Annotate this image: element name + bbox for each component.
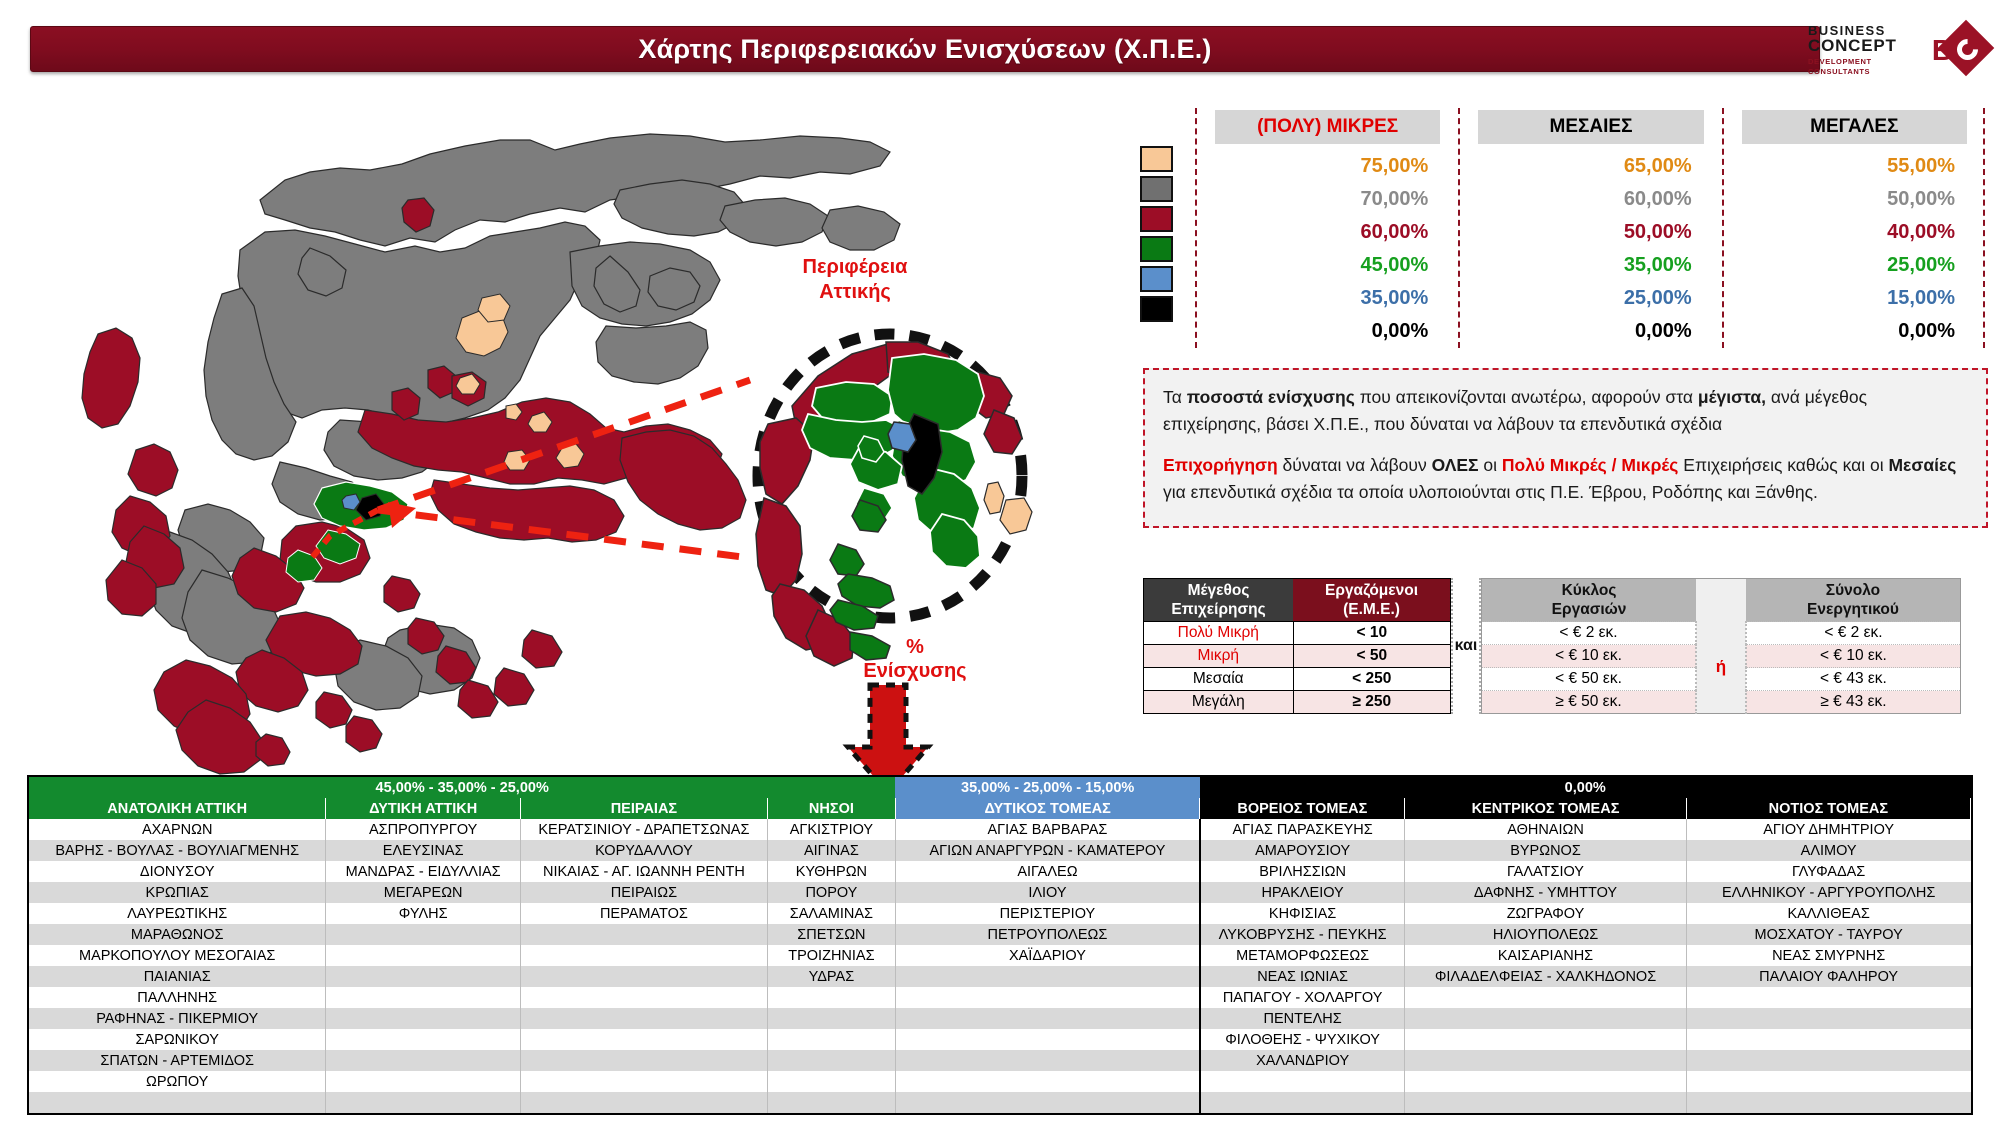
municipality-cell: ΗΛΙΟΥΠΟΛΕΩΣ (1405, 924, 1687, 945)
municipality-cell (520, 1050, 767, 1071)
municipality-cell: ΝΕΑΣ ΙΩΝΙΑΣ (1200, 966, 1405, 987)
municipality-table-grid: 45,00% - 35,00% - 25,00%35,00% - 25,00% … (29, 777, 1971, 1113)
municipality-cell: ΑΓΚΙΣΤΡΙΟΥ (767, 819, 895, 840)
municipality-cell (520, 1029, 767, 1050)
municipality-cell (767, 1050, 895, 1071)
legend-column-1: ΜΕΣΑΙΕΣ65,00%60,00%50,00%35,00%25,00%0,0… (1458, 108, 1721, 348)
attica-callout-line1: Περιφέρεια (755, 255, 955, 280)
municipality-cell: ΠΟΡΟΥ (767, 882, 895, 903)
municipality-cell: ΓΛΥΦΑΔΑΣ (1686, 861, 1970, 882)
municipality-cell: ΑΧΑΡΝΩΝ (29, 819, 326, 840)
municipality-cell: ΒΥΡΩΝΟΣ (1405, 840, 1687, 861)
criteria-header-turn-l1: Κύκλος (1488, 581, 1690, 600)
down-arrow-icon (848, 685, 928, 780)
municipality-cell: ΔΑΦΝΗΣ - ΥΜΗΤΤΟΥ (1405, 882, 1687, 903)
municipality-cell (767, 987, 895, 1008)
municipality-cell: ΠΑΙΑΝΙΑΣ (29, 966, 326, 987)
municipality-cell: ΑΓΙΟΥ ΔΗΜΗΤΡΙΟΥ (1686, 819, 1970, 840)
municipality-cell (1405, 1071, 1687, 1092)
aid-percent-line1: % (825, 635, 1005, 659)
municipality-cell: ΠΑΛΑΙΟΥ ΦΑΛΗΡΟΥ (1686, 966, 1970, 987)
group-header-0: 45,00% - 35,00% - 25,00% (29, 777, 895, 798)
greece-map-panel: Περιφέρεια Αττικής % Ενίσχυσης (10, 80, 1110, 780)
municipality-cell: ΜΕΤΑΜΟΡΦΩΣΕΩΣ (1200, 945, 1405, 966)
municipality-cell (326, 945, 521, 966)
municipality-cell (326, 1029, 521, 1050)
municipality-cell: ΚΑΙΣΑΡΙΑΝΗΣ (1405, 945, 1687, 966)
legend-value-0-2: 60,00% (1205, 216, 1450, 249)
municipality-cell (520, 1092, 767, 1113)
municipality-cell: ΥΔΡΑΣ (767, 966, 895, 987)
municipality-cell (1686, 1050, 1970, 1071)
criteria-header-asset-l2: Ενεργητικού (1752, 600, 1954, 619)
criteria-turnover-cell: < € 2 εκ. (1482, 622, 1697, 645)
municipality-cell: ΛΑΥΡΕΩΤΙΚΗΣ (29, 903, 326, 924)
criteria-turnover-cell: < € 50 εκ. (1482, 668, 1697, 691)
municipality-cell: ΚΕΡΑΤΣΙΝΙΟΥ - ΔΡΑΠΕΤΣΩΝΑΣ (520, 819, 767, 840)
table-row: ΠΑΙΑΝΙΑΣΥΔΡΑΣΝΕΑΣ ΙΩΝΙΑΣΦΙΛΑΔΕΛΦΕΙΑΣ - Χ… (29, 966, 1971, 987)
table-row: ΠΑΛΛΗΝΗΣΠΑΠΑΓΟΥ - ΧΟΛΑΡΓΟΥ (29, 987, 1971, 1008)
municipality-cell: ΦΙΛΟΘΕΗΣ - ΨΥΧΙΚΟΥ (1200, 1029, 1405, 1050)
criteria-header-emp-l2: (Ε.Μ.Ε.) (1299, 600, 1444, 619)
municipality-cell (895, 1092, 1200, 1113)
criteria-row: Πολύ Μικρή< 10 (1144, 622, 1451, 645)
municipality-cell: ΙΛΙΟΥ (895, 882, 1200, 903)
legend-columns: (ΠΟΛΥ) ΜΙΚΡΕΣ75,00%70,00%60,00%45,00%35,… (1195, 108, 1985, 348)
municipality-cell: ΑΛΙΜΟΥ (1686, 840, 1970, 861)
legend-value-1-5: 0,00% (1468, 315, 1713, 348)
legend-value-1-4: 25,00% (1468, 282, 1713, 315)
municipality-cell (326, 1071, 521, 1092)
note-p1-b: ποσοστά ενίσχυσης (1187, 387, 1355, 407)
municipality-cell: ΡΑΦΗΝΑΣ - ΠΙΚΕΡΜΙΟΥ (29, 1008, 326, 1029)
column-header-3[interactable]: ΝΗΣΟΙ (767, 798, 895, 819)
criteria-header-turnover: Κύκλος Εργασιών (1482, 579, 1697, 622)
legend-swatch-5 (1140, 296, 1173, 322)
column-header-4[interactable]: ΔΥΤΙΚΟΣ ΤΟΜΕΑΣ (895, 798, 1200, 819)
municipality-cell: ΩΡΩΠΟΥ (29, 1071, 326, 1092)
criteria-header-size-l2: Επιχείρησης (1150, 600, 1287, 619)
column-header-1[interactable]: ΔΥΤΙΚΗ ΑΤΤΙΚΗ (326, 798, 521, 819)
note-p1-d: μέγιστα, (1698, 387, 1766, 407)
column-header-2[interactable]: ΠΕΙΡΑΙΑΣ (520, 798, 767, 819)
column-header-5[interactable]: ΒΟΡΕΙΟΣ ΤΟΜΕΑΣ (1200, 798, 1405, 819)
municipality-cell (520, 966, 767, 987)
logo-wordmark: BUSINESS CONCEPT DEVELOPMENT CONSULTANTS (1808, 24, 1928, 77)
municipality-cell: ΗΡΑΚΛΕΙΟΥ (1200, 882, 1405, 903)
table-row: ΡΑΦΗΝΑΣ - ΠΙΚΕΡΜΙΟΥΠΕΝΤΕΛΗΣ (29, 1008, 1971, 1029)
criteria-right-table: Κύκλος Εργασιών Σύνολο Ενεργητικού < € 2… (1481, 578, 1961, 714)
legend-value-0-0: 75,00% (1205, 150, 1450, 183)
municipality-cell (326, 966, 521, 987)
municipality-cell: ΕΛΛΗΝΙΚΟΥ - ΑΡΓΥΡΟΥΠΟΛΗΣ (1686, 882, 1970, 903)
municipality-cell (1200, 1071, 1405, 1092)
municipality-cell: ΑΓΙΑΣ ΒΑΡΒΑΡΑΣ (895, 819, 1200, 840)
table-row: ΜΑΡΑΘΩΝΟΣΣΠΕΤΣΩΝΠΕΤΡΟΥΠΟΛΕΩΣΛΥΚΟΒΡΥΣΗΣ -… (29, 924, 1971, 945)
municipality-cell (767, 1071, 895, 1092)
legend-value-0-4: 35,00% (1205, 282, 1450, 315)
municipality-cell: ΣΠΑΤΩΝ - ΑΡΤΕΜΙΔΟΣ (29, 1050, 326, 1071)
municipality-cell (767, 1008, 895, 1029)
criteria-connector-or-header (1696, 579, 1746, 622)
note-p2-h: για επενδυτικά σχέδια τα οποία υλοποιούν… (1163, 482, 1818, 502)
municipality-cell: ΑΜΑΡΟΥΣΙΟΥ (1200, 840, 1405, 861)
criteria-row-right: < € 2 εκ.ή< € 2 εκ. (1482, 622, 1961, 645)
municipality-cell (326, 1008, 521, 1029)
page-title: Χάρτης Περιφερειακών Ενισχύσεων (Χ.Π.Ε.) (638, 34, 1211, 65)
municipality-cell (29, 1092, 326, 1113)
legend-column-header-1: ΜΕΣΑΙΕΣ (1478, 110, 1703, 144)
aid-percent-label: % Ενίσχυσης (825, 635, 1005, 683)
municipality-cell (326, 987, 521, 1008)
table-row: ΚΡΩΠΙΑΣΜΕΓΑΡΕΩΝΠΕΙΡΑΙΩΣΠΟΡΟΥΙΛΙΟΥΗΡΑΚΛΕΙ… (29, 882, 1971, 903)
municipality-cell: ΚΗΦΙΣΙΑΣ (1200, 903, 1405, 924)
municipality-cell (1405, 1050, 1687, 1071)
criteria-row: Μικρή< 50 (1144, 645, 1451, 668)
municipality-cell (1686, 1071, 1970, 1092)
legend-value-2-3: 25,00% (1732, 249, 1977, 282)
municipality-cell: ΝΕΑΣ ΣΜΥΡΝΗΣ (1686, 945, 1970, 966)
table-row: ΣΑΡΩΝΙΚΟΥΦΙΛΟΘΕΗΣ - ΨΥΧΙΚΟΥ (29, 1029, 1971, 1050)
legend-swatch-2 (1140, 206, 1173, 232)
municipality-cell: ΖΩΓΡΑΦΟΥ (1405, 903, 1687, 924)
municipality-cell: ΜΟΣΧΑΤΟΥ - ΤΑΥΡΟΥ (1686, 924, 1970, 945)
municipality-cell (520, 1008, 767, 1029)
municipality-cell: ΛΥΚΟΒΡΥΣΗΣ - ΠΕΥΚΗΣ (1200, 924, 1405, 945)
table-row: ΛΑΥΡΕΩΤΙΚΗΣΦΥΛΗΣΠΕΡΑΜΑΤΟΣΣΑΛΑΜΙΝΑΣΠΕΡΙΣΤ… (29, 903, 1971, 924)
municipality-cell (1686, 1092, 1970, 1113)
municipality-cell (895, 1071, 1200, 1092)
municipality-cell: ΠΕΡΙΣΤΕΡΙΟΥ (895, 903, 1200, 924)
note-p2-d: οι (1479, 455, 1502, 475)
note-p2-c: ΟΛΕΣ (1432, 455, 1479, 475)
criteria-header-assets: Σύνολο Ενεργητικού (1746, 579, 1961, 622)
page-title-bar: Χάρτης Περιφερειακών Ενισχύσεων (Χ.Π.Ε.) (30, 26, 1820, 72)
legend-value-1-0: 65,00% (1468, 150, 1713, 183)
municipality-cell (520, 945, 767, 966)
table-row (29, 1092, 1971, 1113)
criteria-size-cell: Πολύ Μικρή (1144, 622, 1294, 645)
legend-value-1-2: 50,00% (1468, 216, 1713, 249)
criteria-header-size-l1: Μέγεθος (1150, 581, 1287, 600)
legend-value-2-4: 15,00% (1732, 282, 1977, 315)
criteria-header-size: Μέγεθος Επιχείρησης (1144, 579, 1294, 622)
logo-line-business: BUSINESS (1808, 24, 1928, 37)
legend-value-1-3: 35,00% (1468, 249, 1713, 282)
table-row: ΒΑΡΗΣ - ΒΟΥΛΑΣ - ΒΟΥΛΙΑΓΜΕΝΗΣΕΛΕΥΣΙΝΑΣΚΟ… (29, 840, 1971, 861)
legend-value-0-5: 0,00% (1205, 315, 1450, 348)
group-header-2: 0,00% (1200, 777, 1971, 798)
note-p2-e: Πολύ Μικρές / Μικρές (1502, 455, 1678, 475)
criteria-size-cell: Μεσαία (1144, 668, 1294, 691)
legend-column-0: (ΠΟΛΥ) ΜΙΚΡΕΣ75,00%70,00%60,00%45,00%35,… (1195, 108, 1458, 348)
municipality-cell: ΧΑΛΑΝΔΡΙΟΥ (1200, 1050, 1405, 1071)
municipality-cell (1405, 1029, 1687, 1050)
table-row: ΩΡΩΠΟΥ (29, 1071, 1971, 1092)
criteria-size-cell: Μικρή (1144, 645, 1294, 668)
municipality-cell: ΜΕΓΑΡΕΩΝ (326, 882, 521, 903)
municipality-cell (895, 1050, 1200, 1071)
criteria-employees-cell: < 10 (1293, 622, 1450, 645)
note-box: Τα ποσοστά ενίσχυσης που απεικονίζονται … (1143, 368, 1988, 528)
criteria-right-body: < € 2 εκ.ή< € 2 εκ.< € 10 εκ.< € 10 εκ.<… (1482, 622, 1961, 714)
criteria-header-asset-l1: Σύνολο (1752, 581, 1954, 600)
column-header-7[interactable]: ΝΟΤΙΟΣ ΤΟΜΕΑΣ (1686, 798, 1970, 819)
note-p2-f: Επιχειρήσεις καθώς και οι (1678, 455, 1888, 475)
legend-value-1-1: 60,00% (1468, 183, 1713, 216)
legend-swatch-1 (1140, 176, 1173, 202)
municipality-cell (895, 1029, 1200, 1050)
municipality-cell: ΠΑΠΑΓΟΥ - ΧΟΛΑΡΓΟΥ (1200, 987, 1405, 1008)
legend-value-2-5: 0,00% (1732, 315, 1977, 348)
municipality-cell (895, 966, 1200, 987)
criteria-left-table: Μέγεθος Επιχείρησης Εργαζόμενοι (Ε.Μ.Ε.)… (1143, 578, 1451, 714)
municipality-cell (326, 1092, 521, 1113)
municipality-cell (326, 1050, 521, 1071)
legend-value-0-1: 70,00% (1205, 183, 1450, 216)
municipality-table-body: ΑΧΑΡΝΩΝΑΣΠΡΟΠΥΡΓΟΥΚΕΡΑΤΣΙΝΙΟΥ - ΔΡΑΠΕΤΣΩ… (29, 819, 1971, 1113)
municipality-cell (520, 987, 767, 1008)
legend-value-2-0: 55,00% (1732, 150, 1977, 183)
legend-column-header-0: (ΠΟΛΥ) ΜΙΚΡΕΣ (1215, 110, 1440, 144)
note-p2-a: Επιχορήγηση (1163, 455, 1278, 475)
criteria-assets-cell: ≥ € 43 εκ. (1746, 691, 1961, 714)
logo-line-tagline: DEVELOPMENT CONSULTANTS (1808, 57, 1928, 77)
criteria-left-body: Πολύ Μικρή< 10Μικρή< 50Μεσαία< 250Μεγάλη… (1144, 622, 1451, 714)
aid-rate-legend: (ΠΟΛΥ) ΜΙΚΡΕΣ75,00%70,00%60,00%45,00%35,… (1140, 108, 1985, 306)
municipality-cell: ΣΑΛΑΜΙΝΑΣ (767, 903, 895, 924)
criteria-employees-cell: ≥ 250 (1293, 691, 1450, 714)
legend-swatch-0 (1140, 146, 1173, 172)
legend-swatch-3 (1140, 236, 1173, 262)
municipality-cell: ΜΑΡΑΘΩΝΟΣ (29, 924, 326, 945)
municipality-cell: ΑΣΠΡΟΠΥΡΓΟΥ (326, 819, 521, 840)
legend-value-0-3: 45,00% (1205, 249, 1450, 282)
criteria-header-employees: Εργαζόμενοι (Ε.Μ.Ε.) (1293, 579, 1450, 622)
legend-value-2-2: 40,00% (1732, 216, 1977, 249)
municipality-group-header-row: 45,00% - 35,00% - 25,00%35,00% - 25,00% … (29, 777, 1971, 798)
municipality-cell: ΕΛΕΥΣΙΝΑΣ (326, 840, 521, 861)
legend-color-swatches (1140, 146, 1173, 326)
table-row: ΜΑΡΚΟΠΟΥΛΟΥ ΜΕΣΟΓΑΙΑΣΤΡΟΙΖΗΝΙΑΣΧΑΪΔΑΡΙΟΥ… (29, 945, 1971, 966)
criteria-size-cell: Μεγάλη (1144, 691, 1294, 714)
criteria-assets-cell: < € 10 εκ. (1746, 645, 1961, 668)
logo-line-concept: CONCEPT (1808, 37, 1928, 55)
attica-callout-label: Περιφέρεια Αττικής (755, 255, 955, 305)
aid-percent-line2: Ενίσχυσης (825, 659, 1005, 683)
note-p2-g: Μεσαίες (1888, 455, 1956, 475)
municipality-cell: ΑΘΗΝΑΙΩΝ (1405, 819, 1687, 840)
municipality-cell (326, 924, 521, 945)
municipality-cell: ΣΠΕΤΣΩΝ (767, 924, 895, 945)
municipality-column-header-row: ΑΝΑΤΟΛΙΚΗ ΑΤΤΙΚΗΔΥΤΙΚΗ ΑΤΤΙΚΗΠΕΙΡΑΙΑΣΝΗΣ… (29, 798, 1971, 819)
municipality-cell: ΝΙΚΑΙΑΣ - ΑΓ. ΙΩΑΝΝΗ ΡΕΝΤΗ (520, 861, 767, 882)
criteria-employees-cell: < 50 (1293, 645, 1450, 668)
callout-arrowhead (388, 502, 416, 528)
criteria-header-row: Μέγεθος Επιχείρησης Εργαζόμενοι (Ε.Μ.Ε.) (1144, 579, 1451, 622)
criteria-header-turn-l2: Εργασιών (1488, 600, 1690, 619)
municipality-cell: ΠΕΡΑΜΑΤΟΣ (520, 903, 767, 924)
criteria-right-header-row: Κύκλος Εργασιών Σύνολο Ενεργητικού (1482, 579, 1961, 622)
legend-column-2: ΜΕΓΑΛΕΣ55,00%50,00%40,00%25,00%15,00%0,0… (1722, 108, 1985, 348)
municipality-cell (767, 1029, 895, 1050)
municipality-cell: ΠΑΛΛΗΝΗΣ (29, 987, 326, 1008)
column-header-0[interactable]: ΑΝΑΤΟΛΙΚΗ ΑΤΤΙΚΗ (29, 798, 326, 819)
municipality-cell (767, 1092, 895, 1113)
map-attica-inset (756, 334, 1032, 666)
municipality-cell (1200, 1092, 1405, 1113)
municipality-cell (895, 1008, 1200, 1029)
municipality-cell (895, 987, 1200, 1008)
percent-arrow (848, 685, 928, 780)
table-row: ΔΙΟΝΥΣΟΥΜΑΝΔΡΑΣ - ΕΙΔΥΛΛΙΑΣΝΙΚΑΙΑΣ - ΑΓ.… (29, 861, 1971, 882)
municipality-cell: ΔΙΟΝΥΣΟΥ (29, 861, 326, 882)
note-paragraph-1: Τα ποσοστά ενίσχυσης που απεικονίζονται … (1163, 384, 1968, 438)
municipality-cell: ΦΙΛΑΔΕΛΦΕΙΑΣ - ΧΑΛΚΗΔΟΝΟΣ (1405, 966, 1687, 987)
logo-diamond-icon: BC (1932, 24, 1986, 76)
municipality-cell: ΜΑΡΚΟΠΟΥΛΟΥ ΜΕΣΟΓΑΙΑΣ (29, 945, 326, 966)
enterprise-size-criteria: Μέγεθος Επιχείρησης Εργαζόμενοι (Ε.Μ.Ε.)… (1143, 578, 1988, 714)
group-header-1: 35,00% - 25,00% - 15,00% (895, 777, 1200, 798)
criteria-connector-or: ή (1696, 622, 1746, 714)
criteria-connector-and: και (1451, 578, 1481, 714)
note-p1-c: που απεικονίζονται ανωτέρω, αφορούν στα (1355, 387, 1698, 407)
municipality-cell: ΒΡΙΛΗΣΣΙΩΝ (1200, 861, 1405, 882)
note-p2-b: δύναται να λάβουν (1278, 455, 1432, 475)
municipality-cell (1405, 1008, 1687, 1029)
municipality-cell: ΒΑΡΗΣ - ΒΟΥΛΑΣ - ΒΟΥΛΙΑΓΜΕΝΗΣ (29, 840, 326, 861)
note-paragraph-2: Επιχορήγηση δύναται να λάβουν ΟΛΕΣ οι Πο… (1163, 452, 1968, 506)
legend-swatch-4 (1140, 266, 1173, 292)
criteria-turnover-cell: < € 10 εκ. (1482, 645, 1697, 668)
municipality-cell: ΦΥΛΗΣ (326, 903, 521, 924)
criteria-turnover-cell: ≥ € 50 εκ. (1482, 691, 1697, 714)
municipality-cell: ΣΑΡΩΝΙΚΟΥ (29, 1029, 326, 1050)
municipality-cell (1405, 1092, 1687, 1113)
municipality-table: 45,00% - 35,00% - 25,00%35,00% - 25,00% … (27, 775, 1973, 1115)
municipality-cell (520, 1071, 767, 1092)
legend-column-header-2: ΜΕΓΑΛΕΣ (1742, 110, 1967, 144)
criteria-assets-cell: < € 2 εκ. (1746, 622, 1961, 645)
municipality-cell: ΠΕΝΤΕΛΗΣ (1200, 1008, 1405, 1029)
column-header-6[interactable]: ΚΕΝΤΡΙΚΟΣ ΤΟΜΕΑΣ (1405, 798, 1687, 819)
municipality-cell (1686, 1008, 1970, 1029)
municipality-cell: ΚΟΡΥΔΑΛΛΟΥ (520, 840, 767, 861)
municipality-cell: ΚΡΩΠΙΑΣ (29, 882, 326, 903)
municipality-cell (1405, 987, 1687, 1008)
municipality-cell: ΤΡΟΙΖΗΝΙΑΣ (767, 945, 895, 966)
criteria-assets-cell: < € 43 εκ. (1746, 668, 1961, 691)
municipality-cell (520, 924, 767, 945)
municipality-cell: ΑΓΙΩΝ ΑΝΑΡΓΥΡΩΝ - ΚΑΜΑΤΕΡΟΥ (895, 840, 1200, 861)
municipality-cell (1686, 987, 1970, 1008)
table-row: ΣΠΑΤΩΝ - ΑΡΤΕΜΙΔΟΣΧΑΛΑΝΔΡΙΟΥ (29, 1050, 1971, 1071)
municipality-cell: ΓΑΛΑΤΣΙΟΥ (1405, 861, 1687, 882)
criteria-row: Μεγάλη≥ 250 (1144, 691, 1451, 714)
legend-value-2-1: 50,00% (1732, 183, 1977, 216)
attica-callout-line2: Αττικής (755, 280, 955, 305)
municipality-cell: ΠΕΙΡΑΙΩΣ (520, 882, 767, 903)
municipality-cell: ΑΙΓΑΛΕΩ (895, 861, 1200, 882)
company-logo: BUSINESS CONCEPT DEVELOPMENT CONSULTANTS… (1808, 20, 1986, 80)
municipality-cell: ΧΑΪΔΑΡΙΟΥ (895, 945, 1200, 966)
table-row: ΑΧΑΡΝΩΝΑΣΠΡΟΠΥΡΓΟΥΚΕΡΑΤΣΙΝΙΟΥ - ΔΡΑΠΕΤΣΩ… (29, 819, 1971, 840)
municipality-cell: ΠΕΤΡΟΥΠΟΛΕΩΣ (895, 924, 1200, 945)
municipality-cell (1686, 1029, 1970, 1050)
criteria-row: Μεσαία< 250 (1144, 668, 1451, 691)
municipality-cell: ΚΑΛΛΙΘΕΑΣ (1686, 903, 1970, 924)
criteria-employees-cell: < 250 (1293, 668, 1450, 691)
municipality-cell: ΑΓΙΑΣ ΠΑΡΑΣΚΕΥΗΣ (1200, 819, 1405, 840)
municipality-cell: ΜΑΝΔΡΑΣ - ΕΙΔΥΛΛΙΑΣ (326, 861, 521, 882)
criteria-header-emp-l1: Εργαζόμενοι (1299, 581, 1444, 600)
municipality-cell: ΚΥΘΗΡΩΝ (767, 861, 895, 882)
municipality-cell: ΑΙΓΙΝΑΣ (767, 840, 895, 861)
note-p1-a: Τα (1163, 387, 1187, 407)
